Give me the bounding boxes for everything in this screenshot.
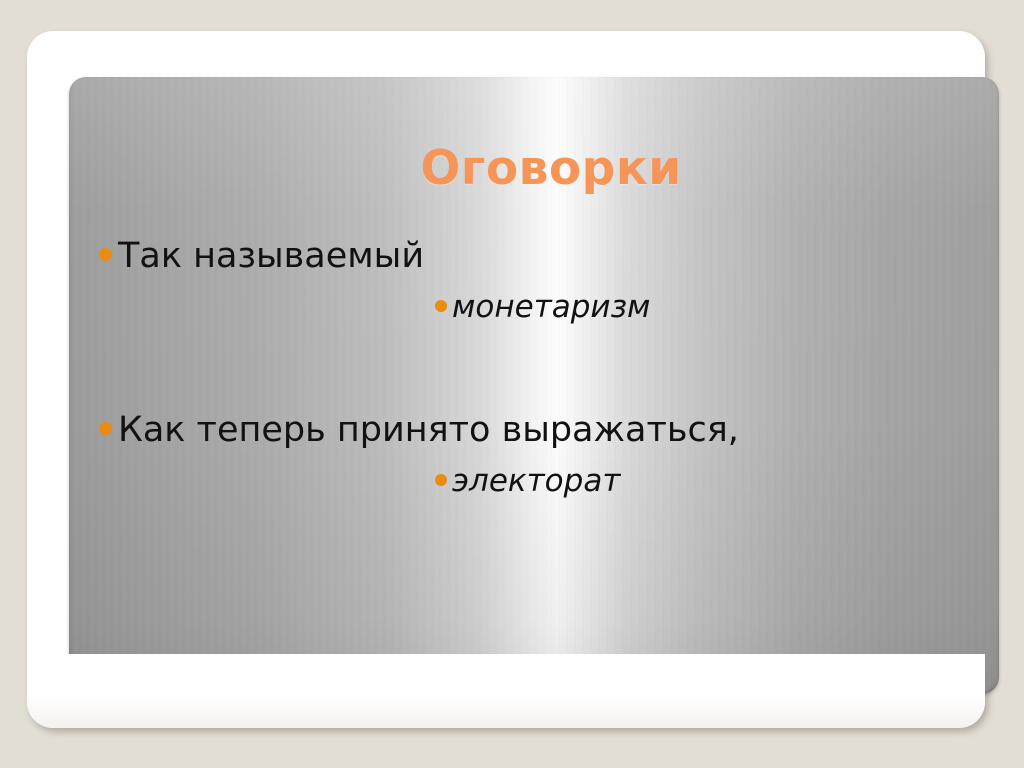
bullet-item-4-text: электорат bbox=[452, 462, 620, 500]
slide-content-panel: Оговорки Так называемый монетаризм Как т… bbox=[69, 77, 999, 694]
bullet-item-3: Как теперь принято выражаться, bbox=[99, 409, 959, 452]
slide-frame: Оговорки Так называемый монетаризм Как т… bbox=[27, 31, 985, 728]
bullet-item-2-text: монетаризм bbox=[452, 288, 650, 326]
slide-body-area: Оговорки Так называемый монетаризм Как т… bbox=[69, 77, 999, 694]
orange-dot-bullet-icon bbox=[435, 474, 447, 486]
slide-title: Оговорки bbox=[69, 145, 999, 192]
bullet-item-2: монетаризм bbox=[435, 288, 959, 326]
bullet-list: Так называемый монетаризм Как теперь при… bbox=[99, 235, 959, 501]
orange-dot-bullet-icon bbox=[435, 300, 447, 312]
bullet-item-1-text: Так называемый bbox=[118, 235, 424, 278]
bullet-item-1: Так называемый bbox=[99, 235, 959, 278]
orange-dot-bullet-icon bbox=[99, 422, 112, 435]
orange-dot-bullet-icon bbox=[99, 248, 112, 261]
bullet-item-3-text: Как теперь принято выражаться, bbox=[118, 409, 739, 452]
bullet-item-4: электорат bbox=[435, 462, 959, 500]
slide-stage: Оговорки Так называемый монетаризм Как т… bbox=[0, 0, 1024, 768]
